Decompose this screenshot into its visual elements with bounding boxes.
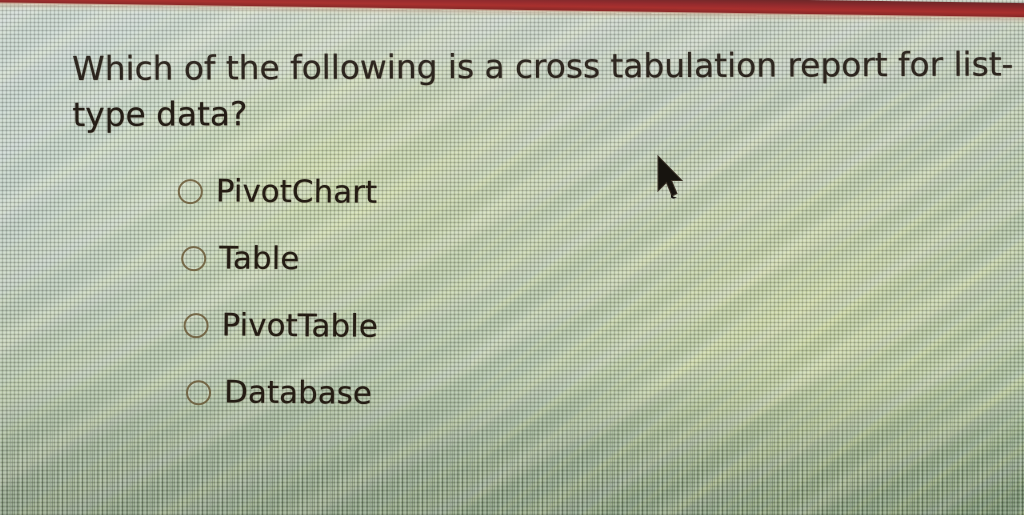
quiz-content: Which of the following is a cross tabula…	[0, 0, 1024, 515]
option-label: Table	[219, 241, 299, 276]
option-table[interactable]: Table	[181, 235, 379, 283]
radio-button-icon[interactable]	[184, 313, 209, 338]
radio-button-icon[interactable]	[178, 179, 203, 204]
answer-options-list: PivotChart Table PivotTable Database	[174, 168, 380, 438]
option-label: PivotChart	[216, 174, 378, 209]
radio-button-icon[interactable]	[181, 246, 206, 271]
option-label: PivotTable	[221, 308, 378, 343]
option-label: Database	[224, 375, 372, 410]
photographed-screen: Which of the following is a cross tabula…	[0, 0, 1024, 515]
option-database[interactable]: Database	[186, 369, 378, 417]
radio-button-icon[interactable]	[186, 380, 211, 405]
option-pivotchart[interactable]: PivotChart	[178, 168, 380, 216]
option-pivottable[interactable]: PivotTable	[183, 302, 378, 350]
question-text: Which of the following is a cross tabula…	[72, 41, 1024, 138]
